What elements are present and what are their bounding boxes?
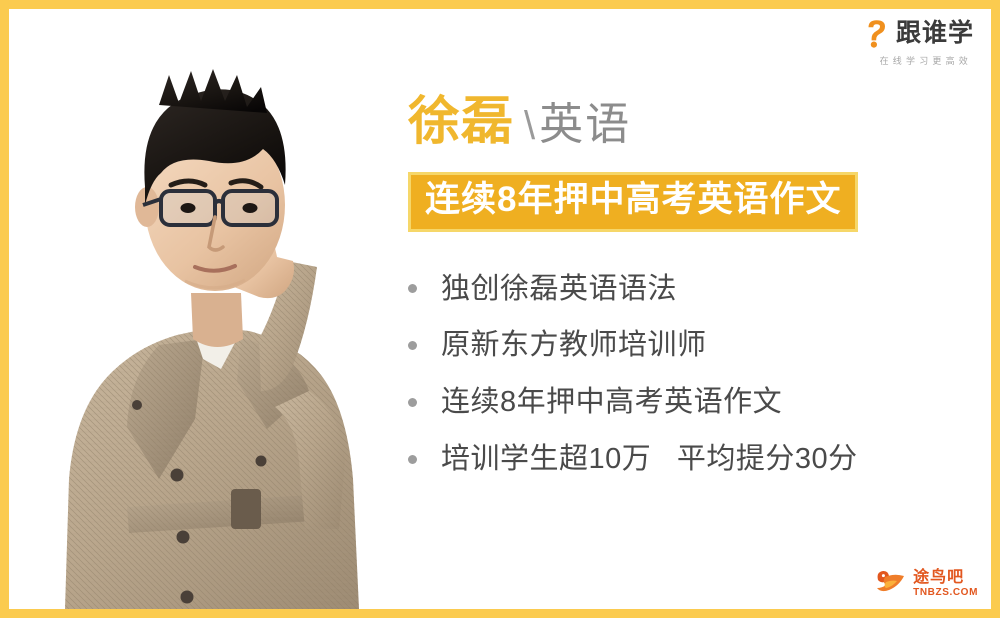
bullet-dot-icon — [408, 455, 417, 464]
highlight-banner: 连续8年押中高考英语作文 — [408, 172, 858, 232]
frame-border-bottom — [0, 609, 1000, 618]
content-column: 徐磊 \ 英语 连续8年押中高考英语作文 独创徐磊英语语法 原新东方教师培训师 … — [408, 96, 968, 499]
list-item: 培训学生超10万 平均提分30分 — [408, 442, 968, 477]
credentials-list: 独创徐磊英语语法 原新东方教师培训师 连续8年押中高考英语作文 培训学生超10万… — [408, 272, 968, 477]
bullet-dot-icon — [408, 341, 417, 350]
frame-border-left — [0, 0, 9, 618]
question-mark-icon — [864, 18, 890, 48]
list-item: 原新东方教师培训师 — [408, 328, 968, 363]
headline: 徐磊 \ 英语 — [408, 96, 968, 148]
bird-icon — [872, 568, 908, 600]
frame-border-top — [0, 0, 1000, 9]
site-watermark: 途鸟吧 TNBZS.COM — [872, 568, 978, 600]
bullet-dot-icon — [408, 398, 417, 407]
brand-logo: 跟谁学 在线学习更高效 — [864, 18, 974, 67]
watermark-url: TNBZS.COM — [913, 588, 978, 598]
watermark-name: 途鸟吧 — [913, 570, 978, 586]
frame-border-right — [991, 0, 1000, 618]
watermark-text: 途鸟吧 TNBZS.COM — [913, 570, 978, 598]
promo-slide: 跟谁学 在线学习更高效 徐磊 \ 英语 连续8年押中高考英语作文 独创徐磊英语语… — [0, 0, 1000, 618]
list-item: 连续8年押中高考英语作文 — [408, 385, 968, 420]
brand-logo-row: 跟谁学 — [864, 18, 974, 48]
list-item-label: 培训学生超10万 平均提分30分 — [441, 442, 858, 477]
brand-name: 跟谁学 — [896, 21, 974, 46]
list-item-label: 独创徐磊英语语法 — [441, 272, 677, 307]
brand-tagline: 在线学习更高效 — [864, 54, 974, 67]
teacher-name: 徐磊 — [408, 96, 514, 148]
teacher-subject: 英语 — [539, 103, 631, 147]
list-item-label: 原新东方教师培训师 — [441, 328, 707, 363]
teacher-portrait-photo — [9, 9, 381, 609]
headline-separator: \ — [514, 106, 539, 146]
list-item: 独创徐磊英语语法 — [408, 272, 968, 307]
list-item-label: 连续8年押中高考英语作文 — [441, 385, 782, 420]
bullet-dot-icon — [408, 284, 417, 293]
highlight-banner-text: 连续8年押中高考英语作文 — [425, 180, 841, 219]
